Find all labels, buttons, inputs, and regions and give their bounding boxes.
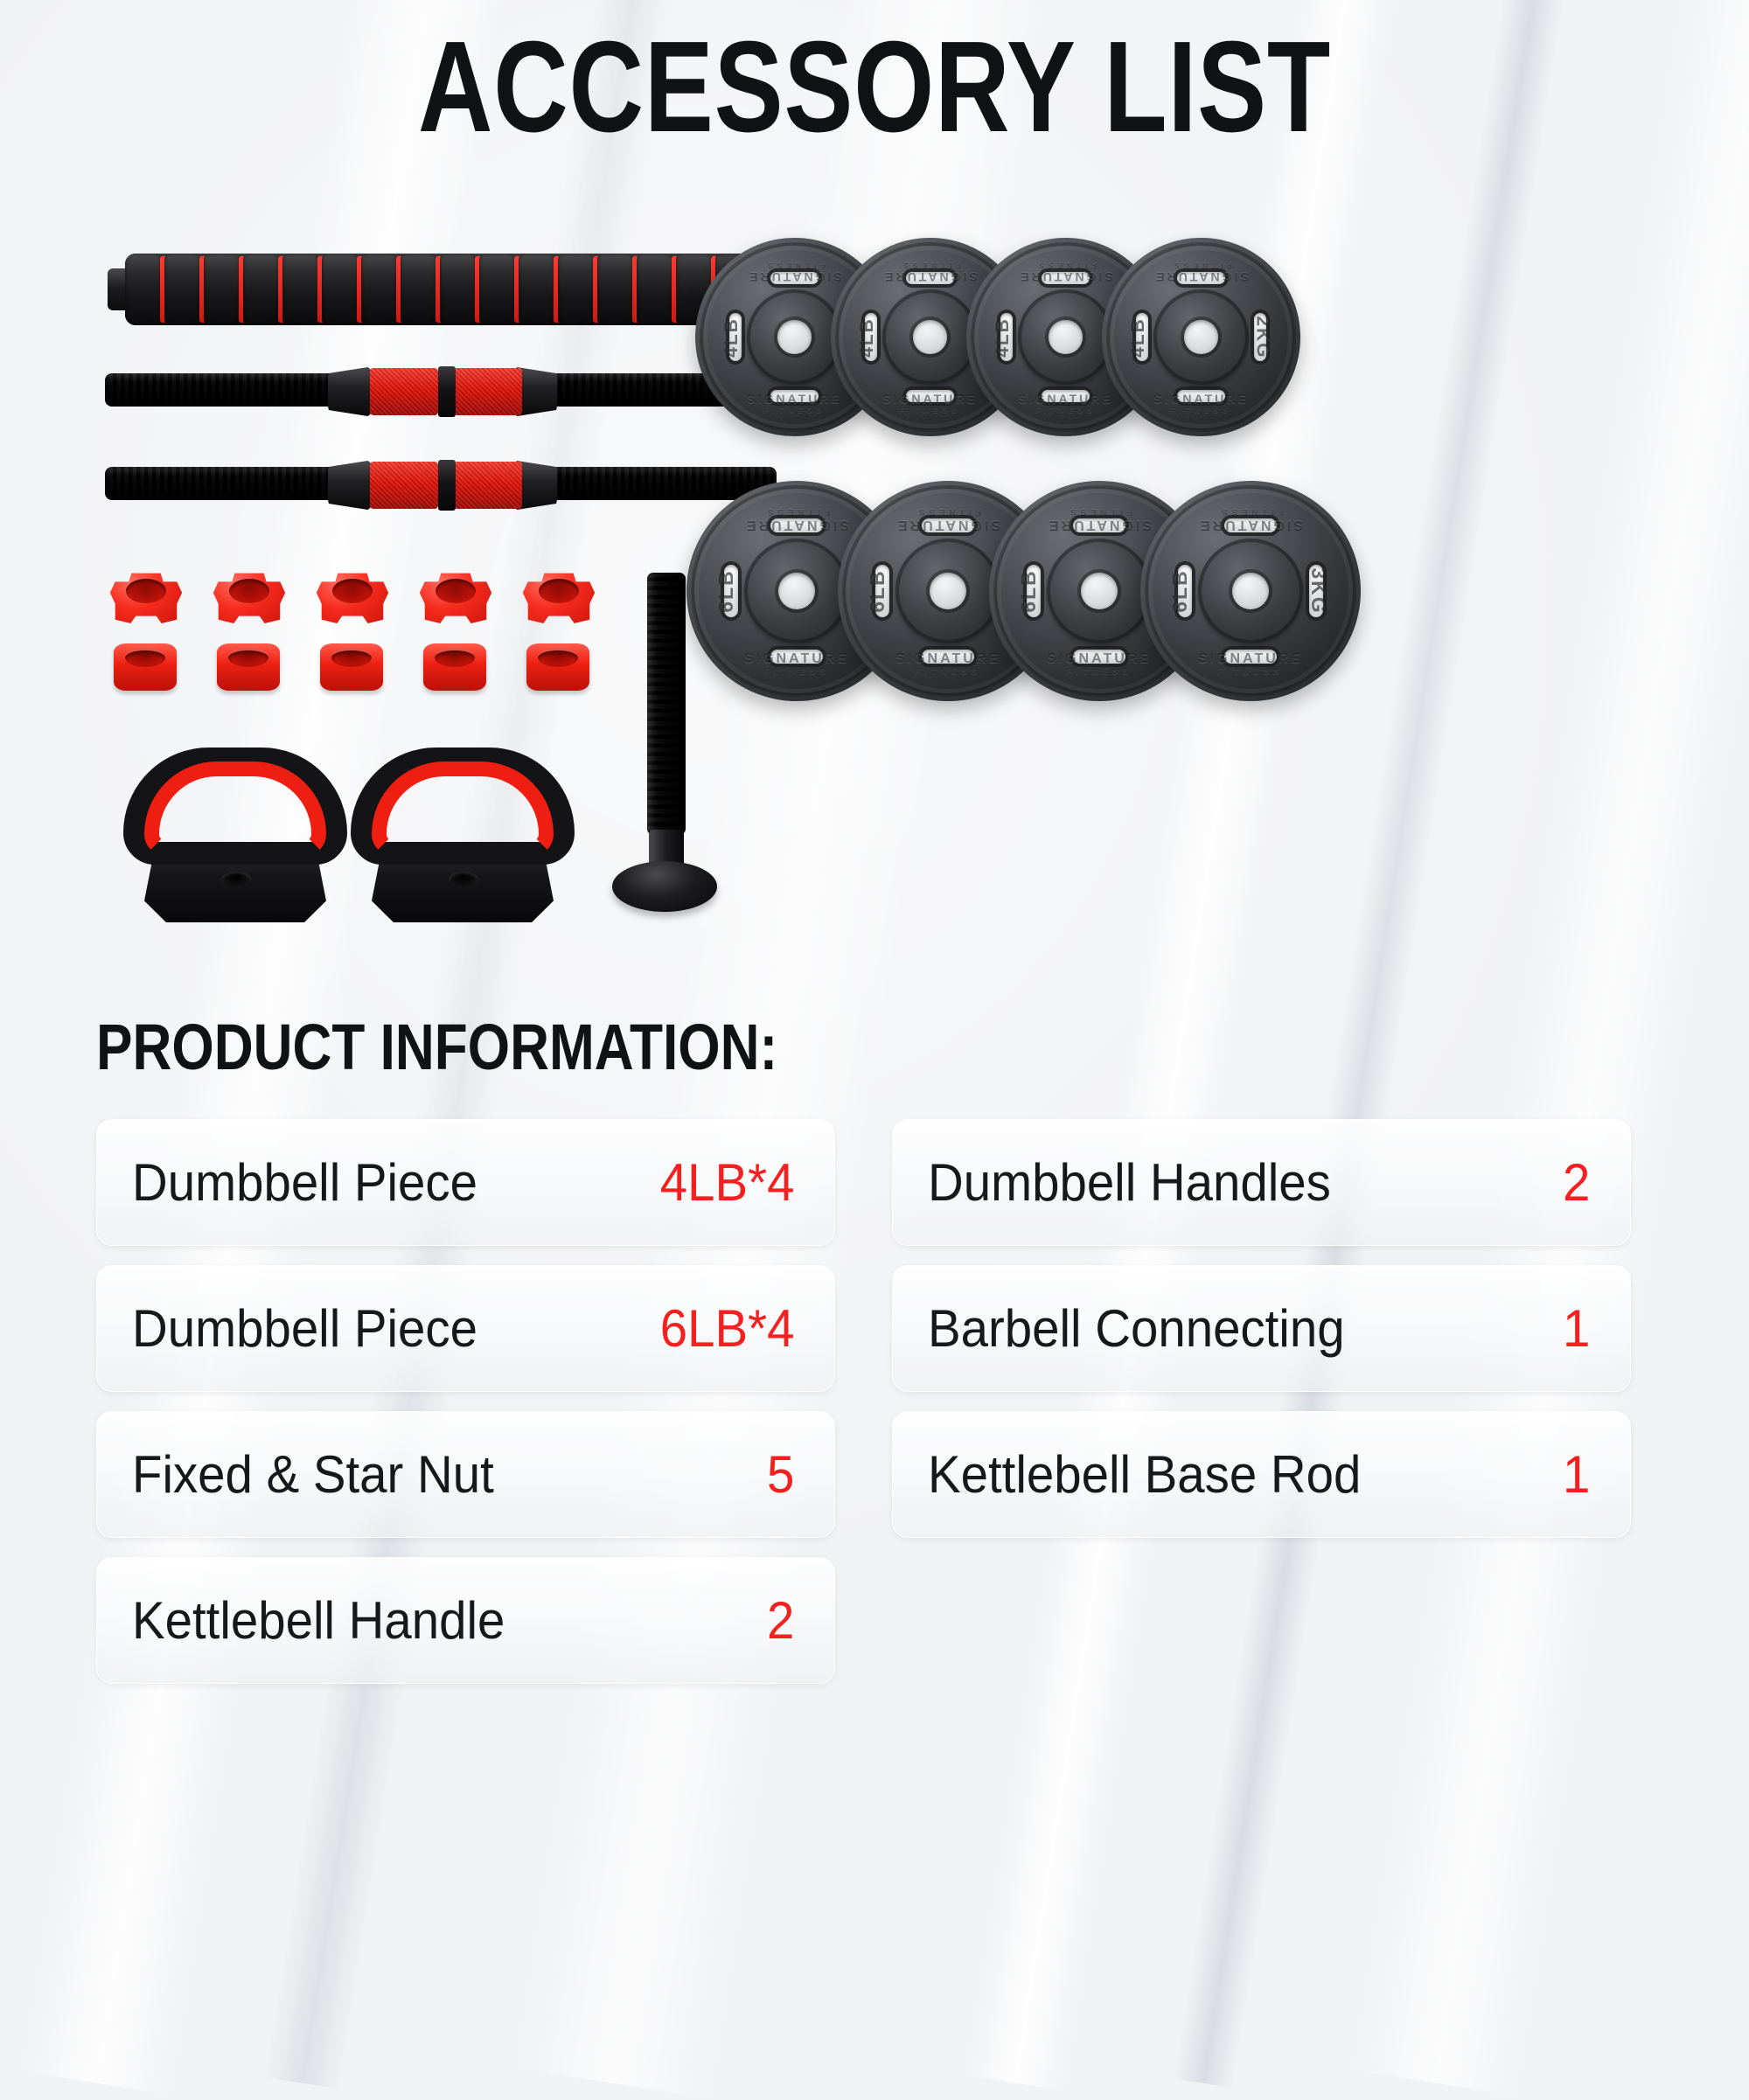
- plate-brand-mark: SIGNATUREFITNESS: [1102, 392, 1300, 414]
- star-nut: [413, 568, 498, 629]
- collar-bore: [538, 648, 578, 667]
- plate-weight-lb: 4LB: [721, 317, 742, 358]
- product-row-quantity: 2: [1563, 1157, 1590, 1209]
- plate-brand-mark: SIGNATUREFITNESS: [1102, 261, 1300, 284]
- collar-bore: [125, 648, 165, 667]
- fixed-nut-collar: [526, 643, 589, 691]
- handle-grip-flare: [328, 366, 373, 417]
- foam-tube-segment: [440, 254, 476, 325]
- handle-red-grip: [370, 368, 438, 415]
- handle-center-band: [438, 460, 456, 511]
- product-row: Kettlebell Base Rod1: [892, 1411, 1631, 1538]
- kettlebell-handle: [345, 748, 582, 922]
- kettlebell-handle-bolt-hole: [221, 872, 251, 887]
- handle-grip-flare: [328, 460, 373, 511]
- weight-plate: 6LB3KGSIGNATUREFITNESSSIGNATUREFITNESS: [1140, 481, 1361, 701]
- handle-center-band: [438, 366, 456, 417]
- plate-brand-mark: SIGNATUREFITNESS: [1140, 507, 1361, 532]
- plate-weight-lb: 4LB: [993, 317, 1014, 358]
- plate-weight-lb: 6LB: [867, 569, 890, 612]
- star-nut: [206, 568, 292, 629]
- foam-tube-body: [125, 254, 755, 325]
- foam-tube-segment: [519, 254, 554, 325]
- product-row-label: Kettlebell Base Rod: [928, 1449, 1361, 1501]
- plate-weight-lb: 6LB: [1169, 569, 1193, 612]
- product-row-label: Dumbbell Handles: [928, 1157, 1331, 1209]
- plate-weight-lb: 4LB: [1128, 317, 1149, 358]
- foam-tube-segment: [401, 254, 436, 325]
- handle-red-grip: [454, 368, 522, 415]
- fixed-nut-collar: [114, 643, 177, 691]
- product-row-label: Dumbbell Piece: [132, 1157, 477, 1209]
- star-nut-bore: [332, 579, 373, 603]
- handle-thread-section: [105, 373, 339, 407]
- base-rod-foot: [612, 861, 717, 912]
- foam-tube-segment: [361, 254, 397, 325]
- product-information-table: Dumbbell Piece4LB*4Dumbbell Piece6LB*4Fi…: [96, 1119, 1662, 1684]
- foam-tube-segment: [597, 254, 633, 325]
- star-nut: [103, 568, 189, 629]
- star-nut: [516, 568, 602, 629]
- star-nut-and-collar-group: [103, 568, 628, 708]
- plate-bore: [913, 320, 947, 354]
- fixed-nut-collar: [423, 643, 486, 691]
- foam-tube-segment: [282, 254, 318, 325]
- product-illustration-area: 4LB2KGSIGNATUREFITNESSSIGNATUREFITNESS4L…: [0, 223, 1749, 949]
- plate-weight-kg: 2KG: [1251, 316, 1272, 358]
- product-row-label: Barbell Connecting: [928, 1303, 1345, 1355]
- product-row: Kettlebell Handle2: [96, 1557, 835, 1684]
- product-row: Fixed & Star Nut5: [96, 1411, 835, 1538]
- handle-grip-section: [328, 363, 557, 417]
- product-row: Dumbbell Piece6LB*4: [96, 1265, 835, 1392]
- barbell-connecting-foam-tube: [108, 254, 772, 325]
- star-nut: [310, 568, 395, 629]
- dumbbell-handle-bar: [105, 455, 777, 512]
- star-nut-bore: [539, 579, 579, 603]
- product-row-label: Kettlebell Handle: [132, 1595, 505, 1647]
- foam-tube-segment: [164, 254, 200, 325]
- product-row-quantity: 4LB*4: [659, 1157, 794, 1209]
- star-nut-bore: [229, 579, 269, 603]
- fixed-nut-collar: [320, 643, 383, 691]
- plate-weight-kg: 3KG: [1307, 567, 1330, 614]
- base-rod-threaded-shaft: [647, 573, 686, 835]
- product-row-quantity: 2: [767, 1595, 794, 1647]
- product-row-label: Dumbbell Piece: [132, 1303, 477, 1355]
- foam-tube-segment: [322, 254, 358, 325]
- product-row-label: Fixed & Star Nut: [132, 1449, 494, 1501]
- product-list-left-column: Dumbbell Piece4LB*4Dumbbell Piece6LB*4Fi…: [96, 1119, 835, 1684]
- foam-tube-segment: [204, 254, 240, 325]
- plate-weight-lb: 6LB: [715, 569, 739, 612]
- foam-tube-segment: [558, 254, 594, 325]
- plate-weight-lb: 6LB: [1018, 569, 1042, 612]
- collar-bore: [228, 648, 268, 667]
- plate-brand-mark: SIGNATUREFITNESS: [1140, 651, 1361, 677]
- fixed-nut-collar: [217, 643, 280, 691]
- handle-thread-section: [105, 467, 339, 500]
- product-row-quantity: 6LB*4: [659, 1303, 794, 1355]
- plate-bore: [1049, 320, 1083, 354]
- product-row: Barbell Connecting1: [892, 1265, 1631, 1392]
- collar-bore: [331, 648, 372, 667]
- plate-bore: [777, 320, 812, 354]
- star-nut-bore: [436, 579, 476, 603]
- weight-plate: 4LB2KGSIGNATUREFITNESSSIGNATUREFITNESS: [1102, 238, 1300, 436]
- dumbbell-handle-bar: [105, 361, 777, 419]
- plate-bore: [1184, 320, 1218, 354]
- product-list-right-column: Dumbbell Handles2Barbell Connecting1Kett…: [892, 1119, 1631, 1684]
- product-row-quantity: 1: [1563, 1449, 1590, 1501]
- foam-tube-segment: [243, 254, 279, 325]
- foam-tube-segment: [125, 254, 161, 325]
- foam-tube-segment: [479, 254, 515, 325]
- product-row: Dumbbell Piece4LB*4: [96, 1119, 835, 1246]
- plate-weight-lb: 4LB: [857, 317, 878, 358]
- product-information-heading: PRODUCT INFORMATION:: [96, 1010, 777, 1084]
- kettlebell-handle: [118, 748, 354, 922]
- star-nut-bore: [126, 579, 166, 603]
- handle-red-grip: [370, 462, 438, 509]
- kettlebell-handle-bolt-hole: [449, 872, 478, 887]
- handle-grip-section: [328, 456, 557, 511]
- foam-tube-segment: [637, 254, 672, 325]
- product-row-quantity: 1: [1563, 1303, 1590, 1355]
- page-title: ACCESSORY LIST: [175, 0, 1574, 156]
- product-row: Dumbbell Handles2: [892, 1119, 1631, 1246]
- collar-bore: [435, 648, 475, 667]
- handle-red-grip: [454, 462, 522, 509]
- product-row-quantity: 5: [767, 1449, 794, 1501]
